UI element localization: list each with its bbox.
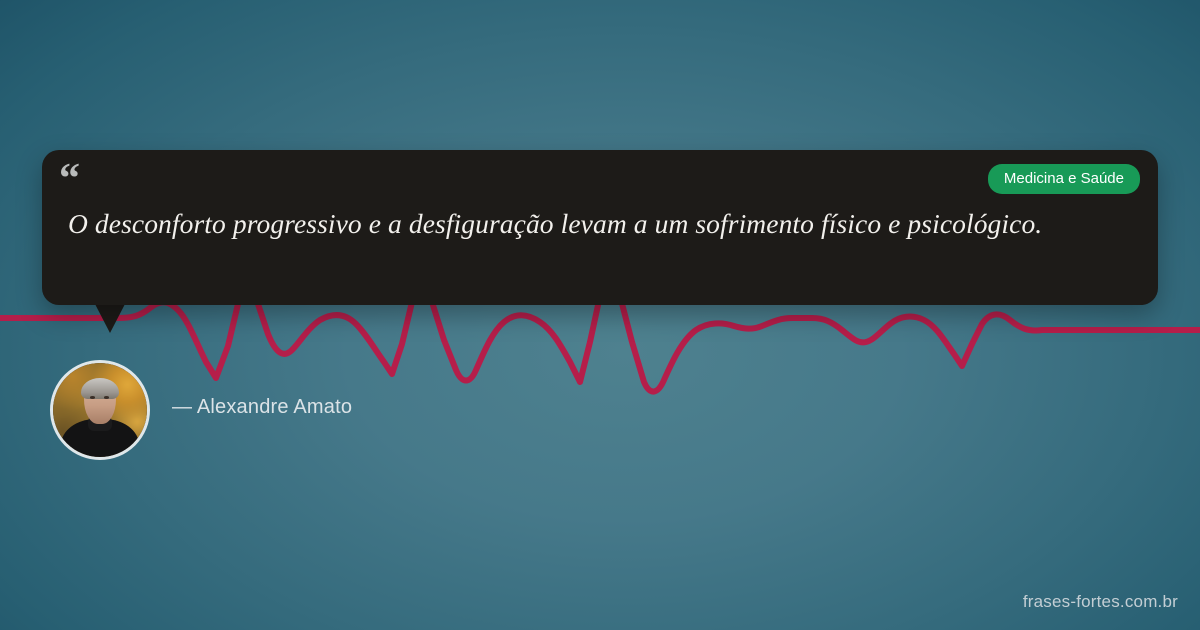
author-name: — Alexandre Amato [172,396,352,419]
avatar-eye-right [104,396,110,399]
site-watermark: frases-fortes.com.br [1023,592,1178,612]
avatar [50,360,150,460]
quote-mark-icon: “ [59,158,79,200]
quote-poster: “ O desconforto progressivo e a desfigur… [0,0,1200,630]
speech-bubble-tail [95,304,125,333]
quote-text: O desconforto progressivo e a desfiguraç… [68,204,1088,243]
avatar-eye-left [90,396,96,399]
avatar-photo [53,363,147,457]
avatar-hair [81,378,119,399]
category-badge[interactable]: Medicina e Saúde [988,164,1140,194]
